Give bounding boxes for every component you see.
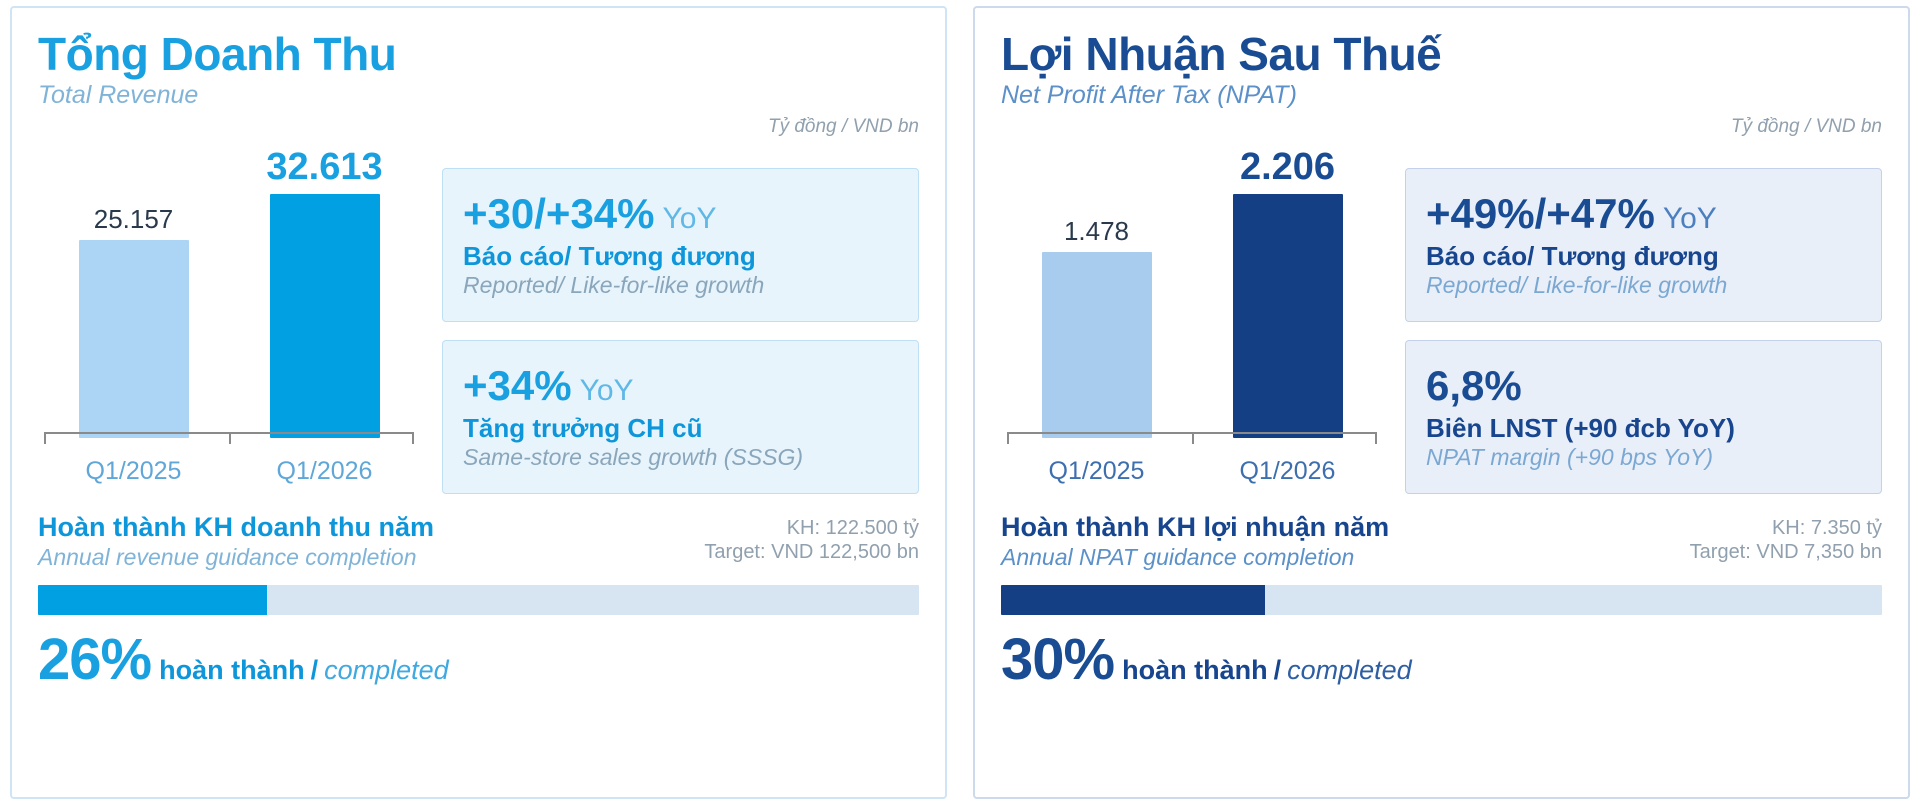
callout-value: +30/+34% — [463, 190, 655, 237]
completion-percent: 30% — [1001, 631, 1114, 689]
callout-sssg: +34%YoY Tăng trưởng CH cũ Same-store sal… — [442, 340, 919, 494]
callout-headline: +49%/+47%YoY — [1426, 192, 1861, 236]
panel-body: 25.157 32.613 Q1/2025 Q1/2026 — [38, 142, 919, 494]
axis-tick-mid — [1192, 433, 1194, 444]
callout-list: +49%/+47%YoY Báo cáo/ Tương đương Report… — [1405, 142, 1882, 494]
completion-separator: / — [311, 655, 319, 686]
panel-header: Lợi Nhuận Sau Thuế Net Profit After Tax … — [1001, 30, 1882, 142]
guidance-section: Hoàn thành KH doanh thu năm Annual reven… — [38, 512, 919, 689]
callout-label-en: Reported/ Like-for-like growth — [1426, 272, 1861, 300]
completion-percent: 26% — [38, 631, 151, 689]
bar-group: 1.478 2.206 — [1001, 148, 1383, 438]
x-axis — [44, 432, 414, 446]
callout-label-en: Reported/ Like-for-like growth — [463, 272, 898, 300]
callout-margin: 6,8% Biên LNST (+90 đcb YoY) NPAT margin… — [1405, 340, 1882, 494]
panel-body: 1.478 2.206 Q1/2025 Q1/2026 — [1001, 142, 1882, 494]
completion-row: 26% hoàn thành / completed — [38, 631, 919, 689]
progress-fill — [1001, 585, 1265, 615]
callout-label-en: NPAT margin (+90 bps YoY) — [1426, 444, 1861, 472]
guidance-target-group: KH: 122.500 tỷ Target: VND 122,500 bn — [704, 512, 919, 564]
x-axis-labels: Q1/2025 Q1/2026 — [38, 457, 420, 486]
progress-bar — [1001, 585, 1882, 615]
unit-label: Tỷ đồng / VND bn — [1731, 116, 1882, 138]
bar-column-prev: 25.157 — [79, 148, 189, 438]
guidance-target-vi: KH: 122.500 tỷ — [704, 516, 919, 540]
bar-chart-revenue: 25.157 32.613 Q1/2025 Q1/2026 — [38, 142, 420, 494]
x-tick-label-prev: Q1/2025 — [79, 457, 189, 486]
bar-column-curr: 32.613 — [270, 148, 380, 438]
panel-header: Tổng Doanh Thu Total Revenue Tỷ đồng / V… — [38, 30, 919, 142]
bar-column-prev: 1.478 — [1042, 148, 1152, 438]
unit-label: Tỷ đồng / VND bn — [768, 116, 919, 138]
callout-yoy: YoY — [1663, 202, 1717, 235]
callout-label-vi: Tăng trưởng CH cũ — [463, 414, 898, 444]
bar-value-curr: 2.206 — [1240, 148, 1335, 186]
callout-yoy: YoY — [580, 374, 634, 407]
guidance-title-group: Hoàn thành KH lợi nhuận năm Annual NPAT … — [1001, 512, 1389, 571]
callout-value: +34% — [463, 362, 572, 409]
guidance-title-vi: Hoàn thành KH lợi nhuận năm — [1001, 512, 1389, 544]
callout-growth: +30/+34%YoY Báo cáo/ Tương đương Reporte… — [442, 168, 919, 322]
bar-value-prev: 1.478 — [1064, 218, 1129, 244]
page-title: Lợi Nhuận Sau Thuế — [1001, 30, 1882, 78]
bar-chart-npat: 1.478 2.206 Q1/2025 Q1/2026 — [1001, 142, 1383, 494]
completion-label-vi: hoàn thành — [1122, 655, 1267, 686]
callout-label-vi: Báo cáo/ Tương đương — [1426, 242, 1861, 272]
bar-value-prev: 25.157 — [94, 206, 174, 232]
x-axis — [1007, 432, 1377, 446]
axis-tick-end — [412, 433, 414, 444]
page-subtitle: Net Profit After Tax (NPAT) — [1001, 82, 1882, 110]
x-tick-label-curr: Q1/2026 — [1233, 457, 1343, 486]
callout-label-en: Same-store sales growth (SSSG) — [463, 444, 898, 472]
completion-label-vi: hoàn thành — [159, 655, 304, 686]
bar-column-curr: 2.206 — [1233, 148, 1343, 438]
callout-label-vi: Biên LNST (+90 đcb YoY) — [1426, 414, 1861, 444]
guidance-title-group: Hoàn thành KH doanh thu năm Annual reven… — [38, 512, 434, 571]
completion-label-en: completed — [1287, 655, 1412, 686]
callout-value: 6,8% — [1426, 362, 1522, 409]
guidance-header: Hoàn thành KH lợi nhuận năm Annual NPAT … — [1001, 512, 1882, 571]
callout-list: +30/+34%YoY Báo cáo/ Tương đương Reporte… — [442, 142, 919, 494]
callout-value: +49%/+47% — [1426, 190, 1655, 237]
panel-revenue: Tổng Doanh Thu Total Revenue Tỷ đồng / V… — [10, 6, 947, 799]
completion-row: 30% hoàn thành / completed — [1001, 631, 1882, 689]
page-subtitle: Total Revenue — [38, 82, 919, 110]
callout-headline: +30/+34%YoY — [463, 192, 898, 236]
x-axis-labels: Q1/2025 Q1/2026 — [1001, 457, 1383, 486]
guidance-header: Hoàn thành KH doanh thu năm Annual reven… — [38, 512, 919, 571]
dashboard: Tổng Doanh Thu Total Revenue Tỷ đồng / V… — [0, 0, 1920, 807]
completion-label-en: completed — [324, 655, 449, 686]
callout-growth: +49%/+47%YoY Báo cáo/ Tương đương Report… — [1405, 168, 1882, 322]
guidance-target-vi: KH: 7.350 tỷ — [1690, 516, 1882, 540]
completion-separator: / — [1274, 655, 1282, 686]
x-tick-label-prev: Q1/2025 — [1042, 457, 1152, 486]
guidance-target-group: KH: 7.350 tỷ Target: VND 7,350 bn — [1690, 512, 1882, 564]
guidance-section: Hoàn thành KH lợi nhuận năm Annual NPAT … — [1001, 512, 1882, 689]
guidance-target-en: Target: VND 122,500 bn — [704, 540, 919, 564]
bar-prev — [79, 240, 189, 438]
bar-value-curr: 32.613 — [266, 148, 382, 186]
bar-group: 25.157 32.613 — [38, 148, 420, 438]
bar-curr — [270, 194, 380, 438]
callout-yoy: YoY — [663, 202, 717, 235]
guidance-title-en: Annual NPAT guidance completion — [1001, 544, 1389, 571]
guidance-target-en: Target: VND 7,350 bn — [1690, 540, 1882, 564]
bar-prev — [1042, 252, 1152, 438]
axis-tick-mid — [229, 433, 231, 444]
panel-npat: Lợi Nhuận Sau Thuế Net Profit After Tax … — [973, 6, 1910, 799]
guidance-title-vi: Hoàn thành KH doanh thu năm — [38, 512, 434, 544]
guidance-title-en: Annual revenue guidance completion — [38, 544, 434, 571]
callout-label-vi: Báo cáo/ Tương đương — [463, 242, 898, 272]
axis-tick-start — [44, 433, 46, 444]
callout-headline: 6,8% — [1426, 364, 1861, 408]
axis-tick-end — [1375, 433, 1377, 444]
progress-bar — [38, 585, 919, 615]
axis-tick-start — [1007, 433, 1009, 444]
bar-curr — [1233, 194, 1343, 438]
progress-fill — [38, 585, 267, 615]
x-tick-label-curr: Q1/2026 — [270, 457, 380, 486]
page-title: Tổng Doanh Thu — [38, 30, 919, 78]
callout-headline: +34%YoY — [463, 364, 898, 408]
